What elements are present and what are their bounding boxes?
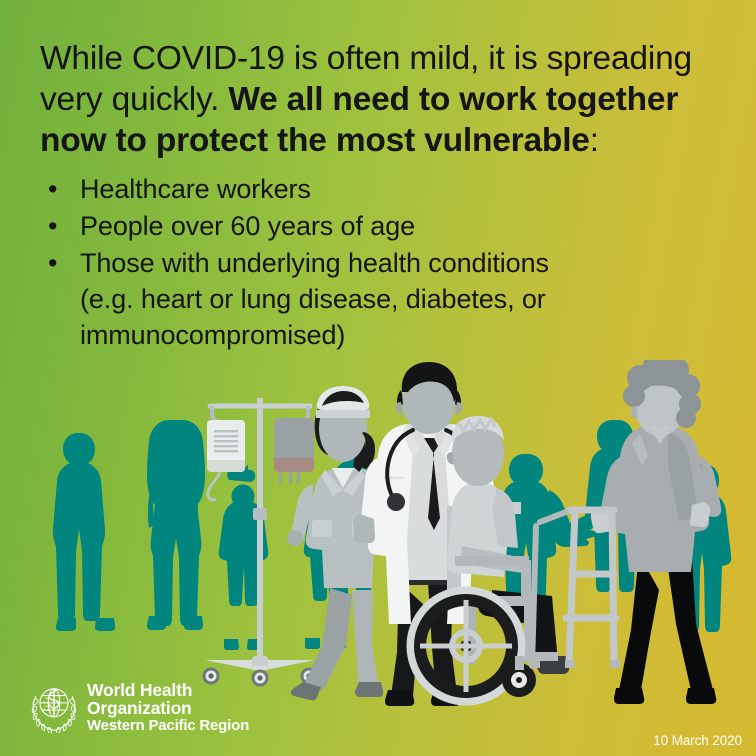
who-region-label: Western Pacific Region [87,717,249,734]
teal-silhouette-man [53,433,115,631]
list-item-label: Healthcare workers [80,174,311,204]
who-line-2: Organization [87,700,249,718]
who-wordmark: World Health Organization Western Pacifi… [87,679,249,734]
vulnerable-groups-list: • Healthcare workers • People over 60 ye… [40,171,730,353]
who-line-1: World Health [87,682,249,700]
who-emblem [28,681,80,733]
message-block: While COVID-19 is often mild, it is spre… [40,38,730,354]
bullet-marker: • [48,208,57,244]
list-item-label: People over 60 years of age [80,211,415,241]
date-stamp: 10 March 2020 [653,733,742,748]
list-item: • Healthcare workers [40,171,730,207]
list-item-sublabel: (e.g. heart or lung disease, diabetes, o… [80,281,730,353]
teal-silhouette-woman [147,420,205,630]
list-item: • Those with underlying health condition… [40,245,730,353]
list-item-label: Those with underlying health conditions [80,248,549,278]
page-title: While COVID-19 is often mild, it is spre… [40,38,730,161]
list-item: • People over 60 years of age [40,208,730,244]
who-logo: World Health Organization Western Pacifi… [28,679,249,734]
headline-trailing: : [590,122,599,159]
bullet-marker: • [48,245,57,281]
poster-canvas: While COVID-19 is often mild, it is spre… [0,0,756,756]
bullet-marker: • [48,171,57,207]
